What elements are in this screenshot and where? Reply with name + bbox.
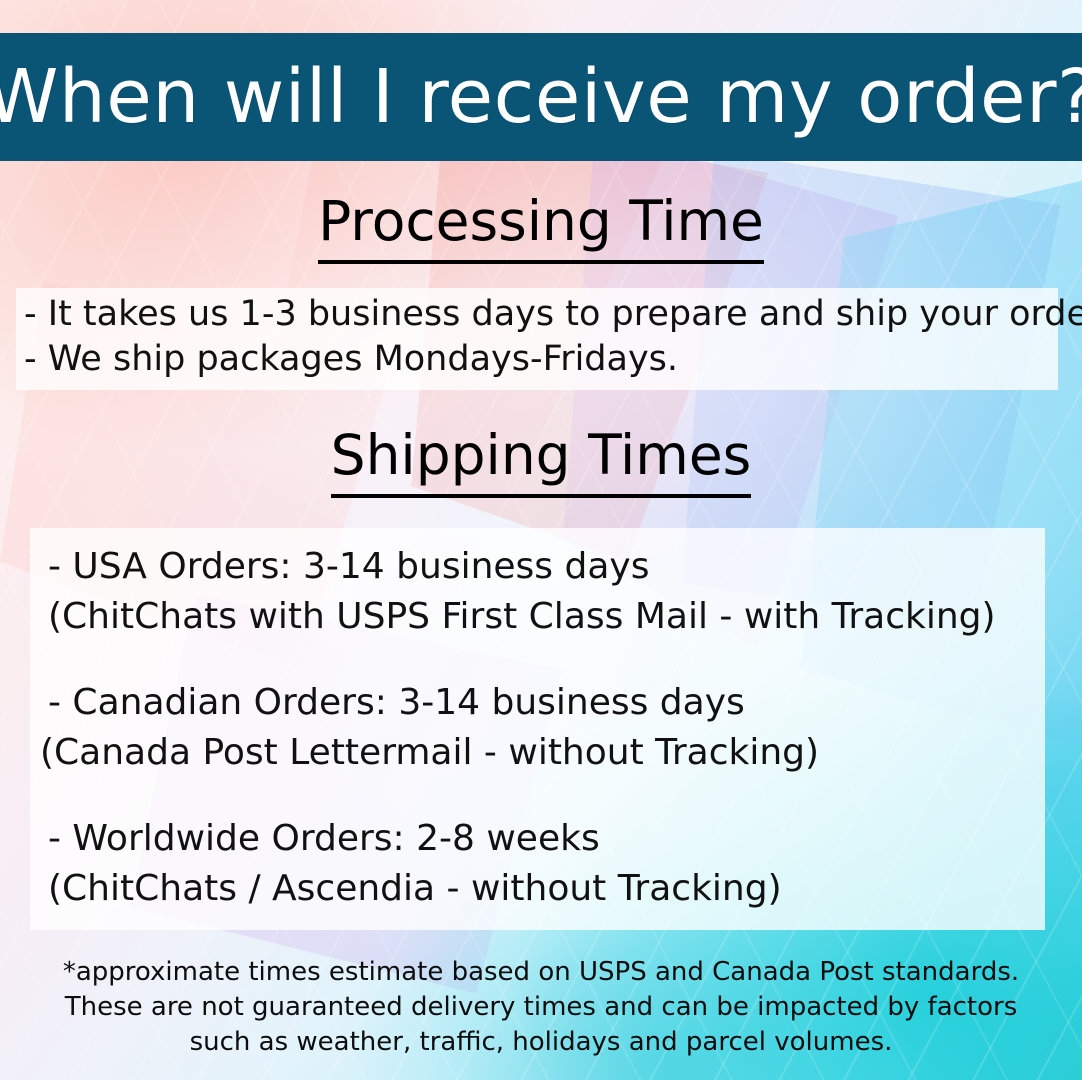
shipping-worldwide-line-2: (ChitChats / Ascendia - without Tracking… [40, 864, 1045, 914]
footnote-line-2: These are not guaranteed delivery times … [0, 990, 1082, 1025]
section-heading-shipping-label: Shipping Times [331, 423, 752, 498]
promo-graphic: When will I receive my order? Processing… [0, 0, 1082, 1080]
shipping-times-panel: - USA Orders: 3-14 business days (ChitCh… [30, 528, 1045, 930]
shipping-canada-line-1: - Canadian Orders: 3-14 business days [40, 678, 1045, 728]
shipping-group-worldwide: - Worldwide Orders: 2-8 weeks (ChitChats… [30, 814, 1045, 914]
shipping-group-usa: - USA Orders: 3-14 business days (ChitCh… [30, 542, 1045, 642]
shipping-usa-line-2: (ChitChats with USPS First Class Mail - … [40, 592, 1045, 642]
footnote-line-3: such as weather, traffic, holidays and p… [0, 1025, 1082, 1060]
footnote-line-1: *approximate times estimate based on USP… [0, 955, 1082, 990]
shipping-worldwide-line-1: - Worldwide Orders: 2-8 weeks [40, 814, 1045, 864]
section-heading-shipping: Shipping Times [0, 428, 1082, 483]
processing-line-1: - It takes us 1-3 business days to prepa… [16, 292, 1058, 337]
shipping-usa-line-1: - USA Orders: 3-14 business days [40, 542, 1045, 592]
section-heading-processing: Processing Time [0, 194, 1082, 249]
footnote-disclaimer: *approximate times estimate based on USP… [0, 955, 1082, 1060]
shipping-group-canada: - Canadian Orders: 3-14 business days (C… [30, 678, 1045, 778]
header-banner: When will I receive my order? [0, 33, 1082, 161]
processing-time-panel: - It takes us 1-3 business days to prepa… [16, 288, 1058, 390]
page-title: When will I receive my order? [0, 60, 1082, 134]
shipping-canada-line-2: (Canada Post Lettermail - without Tracki… [40, 728, 1045, 778]
processing-line-2: - We ship packages Mondays-Fridays. [16, 337, 1058, 382]
section-heading-processing-label: Processing Time [318, 189, 764, 264]
